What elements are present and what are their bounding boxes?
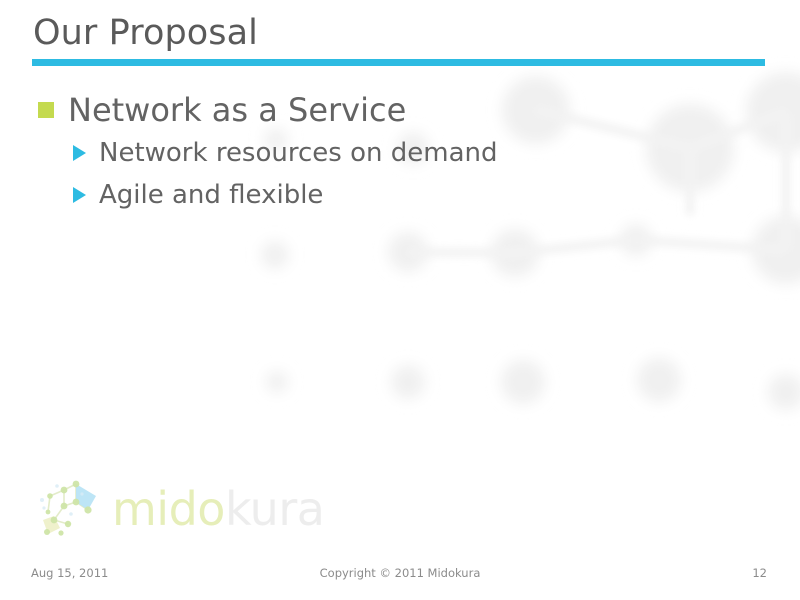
list-item: Agile and flexible (0, 174, 800, 216)
list-item-label: Agile and flexible (99, 174, 323, 216)
square-bullet-icon (38, 102, 54, 118)
slide-footer: Aug 15, 2011 Copyright © 2011 Midokura 1… (0, 562, 800, 586)
logo-word-mido: mido (112, 482, 225, 536)
triangle-bullet-icon (73, 187, 86, 203)
triangle-bullet-icon (73, 145, 86, 161)
midokura-logo: midokura (38, 474, 338, 540)
title-accent-rule (32, 59, 765, 66)
list-item: Network as a Service (0, 88, 800, 132)
footer-copyright: Copyright © 2011 Midokura (0, 565, 800, 581)
list-item-label: Network resources on demand (99, 132, 497, 174)
list-item-label: Network as a Service (68, 88, 406, 132)
footer-page-number: 12 (707, 565, 800, 581)
page-title: Our Proposal (33, 12, 258, 54)
logo-word-kura: kura (225, 482, 324, 536)
midokura-network-nodes-icon (38, 476, 108, 538)
logo-wordmark: midokura (112, 486, 324, 532)
bullet-list: Network as a Service Network resources o… (0, 88, 800, 216)
slide-canvas: Our Proposal Network as a Service Networ… (0, 0, 800, 600)
list-item: Network resources on demand (0, 132, 800, 174)
